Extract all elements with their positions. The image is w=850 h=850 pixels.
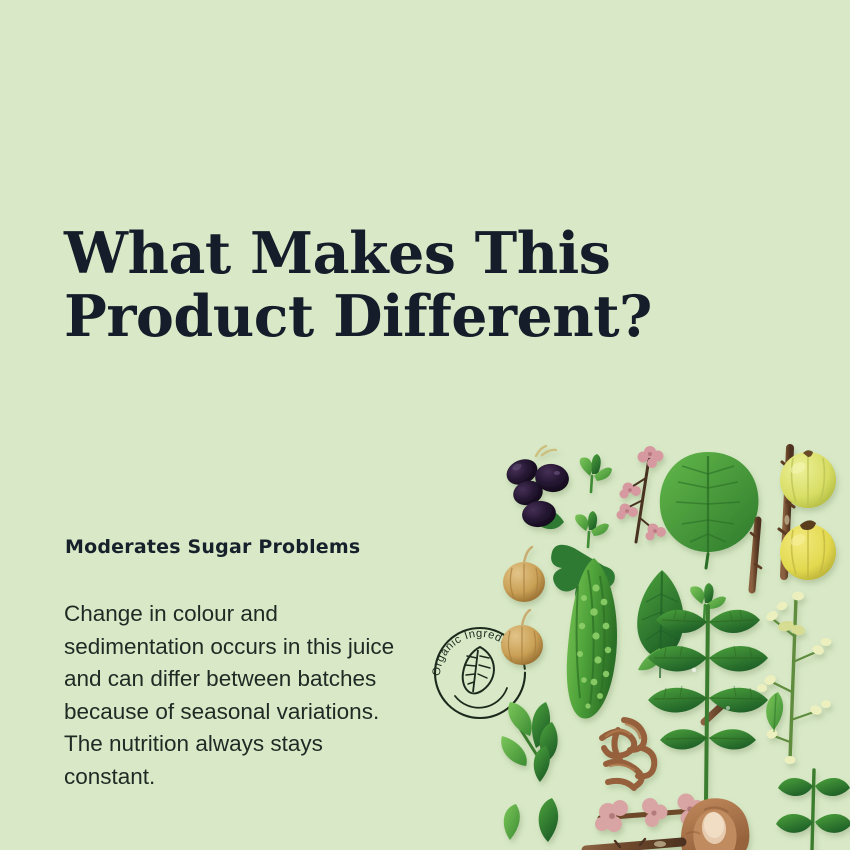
neem-sprig (776, 770, 850, 850)
bitter-gourd (551, 545, 617, 719)
feature-body-text: Change in colour and sedimentation occur… (64, 598, 416, 793)
dried-roots (602, 720, 654, 788)
feature-subheading: Moderates Sugar Problems (65, 536, 465, 558)
pink-flower-sprig (617, 446, 667, 542)
onion-bulb (501, 547, 545, 665)
flower-branch (757, 592, 832, 765)
poster-canvas: What Makes This Product Different? Moder… (0, 0, 850, 850)
broad-leaf (660, 452, 759, 568)
pointed-leaf (504, 798, 558, 842)
bark-twig (586, 839, 682, 850)
page-title: What Makes This Product Different? (64, 222, 704, 348)
jamun-berries (503, 446, 572, 529)
pointed-leaf (766, 692, 783, 732)
botanical-collage (490, 430, 850, 850)
pointed-leaf (501, 702, 557, 782)
clover-leaf-sprig (575, 454, 612, 547)
